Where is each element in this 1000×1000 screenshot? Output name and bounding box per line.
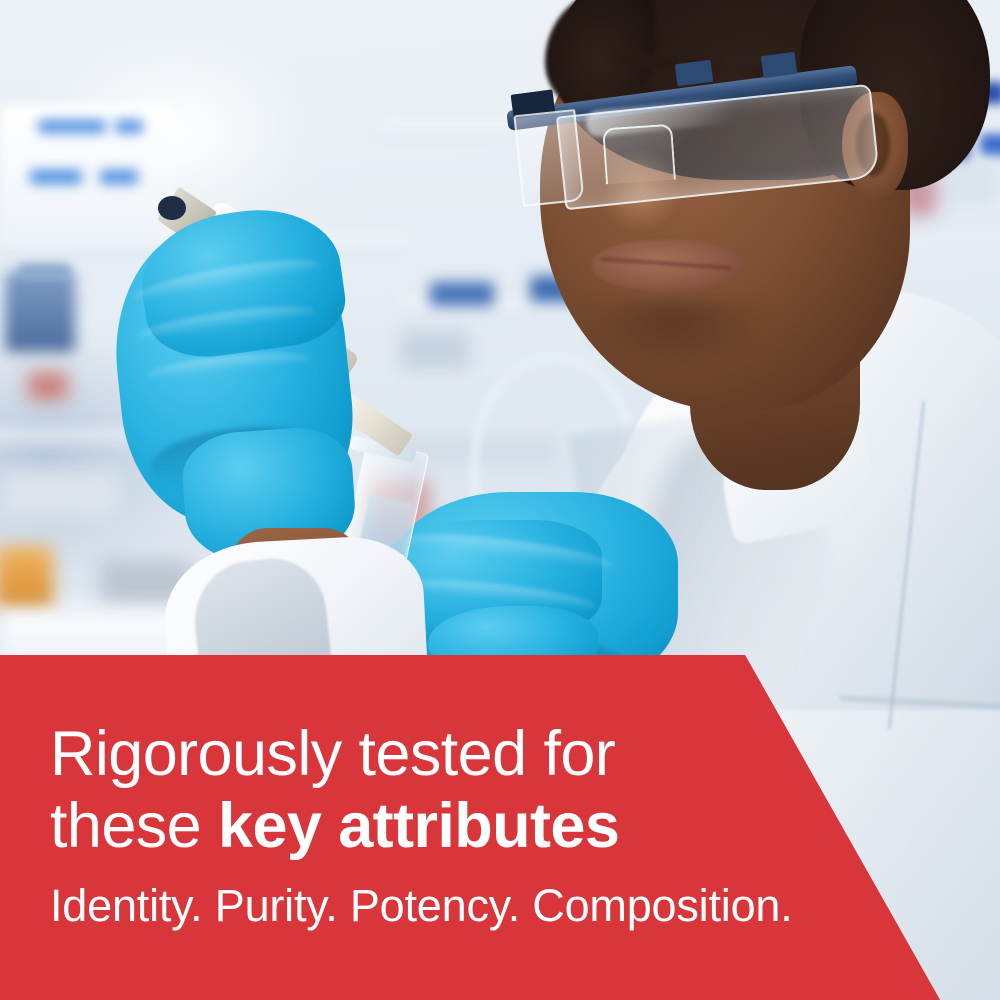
background-blue-label bbox=[100, 170, 138, 184]
background-reagent-bottle bbox=[980, 134, 1000, 156]
background-item bbox=[400, 330, 470, 370]
pipette-plunger-cap bbox=[158, 196, 186, 220]
goggles-adjuster bbox=[761, 52, 798, 78]
goggles-side-shield bbox=[513, 109, 584, 207]
background-item bbox=[0, 546, 53, 608]
background-blue-label bbox=[115, 120, 143, 133]
background-blue-box bbox=[430, 282, 494, 306]
goggles-adjuster bbox=[675, 60, 714, 87]
glove-right-thumb bbox=[428, 606, 598, 682]
headline-line-2: these key attributes bbox=[50, 790, 770, 862]
background-item bbox=[0, 470, 120, 518]
subheadline: Identity. Purity. Potency. Composition. bbox=[50, 880, 793, 932]
headline-line-2-light: these bbox=[50, 791, 218, 861]
background-blue-bin bbox=[5, 272, 75, 352]
headline-block: Rigorously tested for these key attribut… bbox=[50, 718, 770, 862]
headline-line-2-bold: key attributes bbox=[218, 791, 619, 861]
background-item bbox=[28, 372, 68, 400]
chin-shadow bbox=[580, 300, 770, 370]
background-blue-bin bbox=[18, 264, 70, 278]
background-blue-label bbox=[38, 120, 106, 133]
background-blue-label bbox=[30, 170, 82, 184]
promo-banner-image: Rigorously tested for these key attribut… bbox=[0, 0, 1000, 1000]
headline-line-1: Rigorously tested for bbox=[50, 718, 770, 790]
